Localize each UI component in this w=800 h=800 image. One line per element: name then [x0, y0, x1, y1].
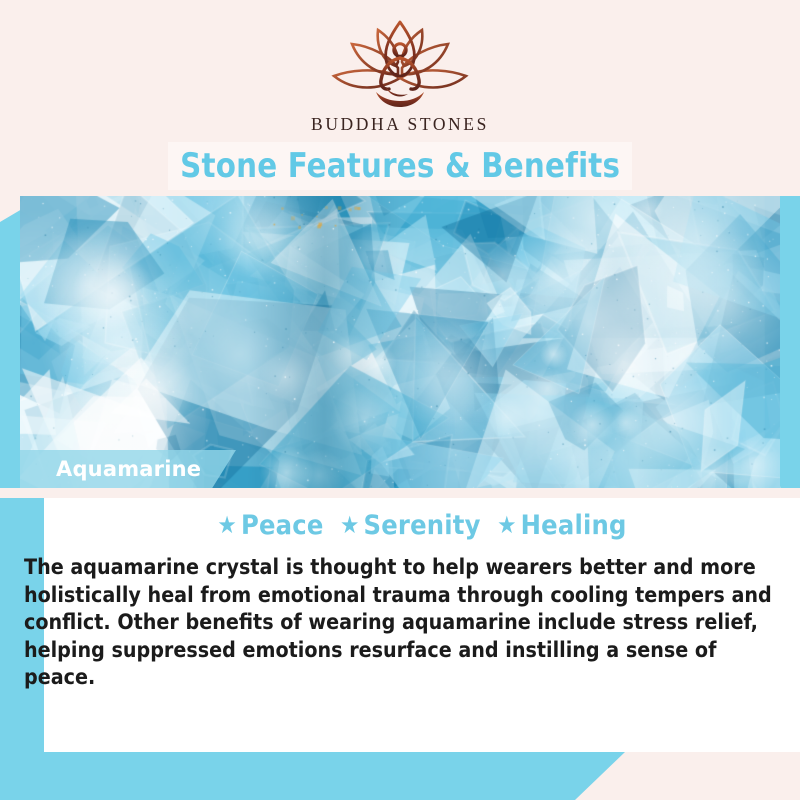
keyword-item-healing: ★Healing [497, 510, 626, 541]
star-icon: ★ [217, 511, 237, 539]
keyword-label: Serenity [364, 510, 481, 541]
content-panel: ★Peace ★Serenity ★Healing The aquamarine… [44, 498, 800, 752]
lotus-meditation-figure-icon [320, 18, 480, 112]
crystal-image-canvas [20, 196, 780, 488]
divider-strip [0, 488, 800, 498]
stone-name-banner: Aquamarine [20, 450, 236, 488]
keyword-label: Peace [241, 510, 324, 541]
stone-features-poster: BUDDHA STONES Stone Features & Benefits … [0, 0, 800, 800]
page-title-plate: Stone Features & Benefits [168, 142, 632, 190]
aquamarine-crystal-photo [20, 196, 780, 488]
stone-name-label: Aquamarine [56, 457, 201, 481]
page-title: Stone Features & Benefits [180, 146, 620, 186]
keyword-item-peace: ★Peace [217, 510, 323, 541]
keyword-item-serenity: ★Serenity [340, 510, 481, 541]
star-icon: ★ [340, 511, 360, 539]
keyword-label: Healing [521, 510, 627, 541]
brand-logo: BUDDHA STONES [270, 18, 530, 135]
star-icon: ★ [497, 511, 517, 539]
stone-description: The aquamarine crystal is thought to hel… [24, 554, 776, 692]
poster-header: BUDDHA STONES Stone Features & Benefits [0, 0, 800, 196]
brand-name: BUDDHA STONES [270, 114, 530, 135]
decorative-band-bottom [0, 752, 625, 800]
keyword-list: ★Peace ★Serenity ★Healing [44, 498, 800, 541]
